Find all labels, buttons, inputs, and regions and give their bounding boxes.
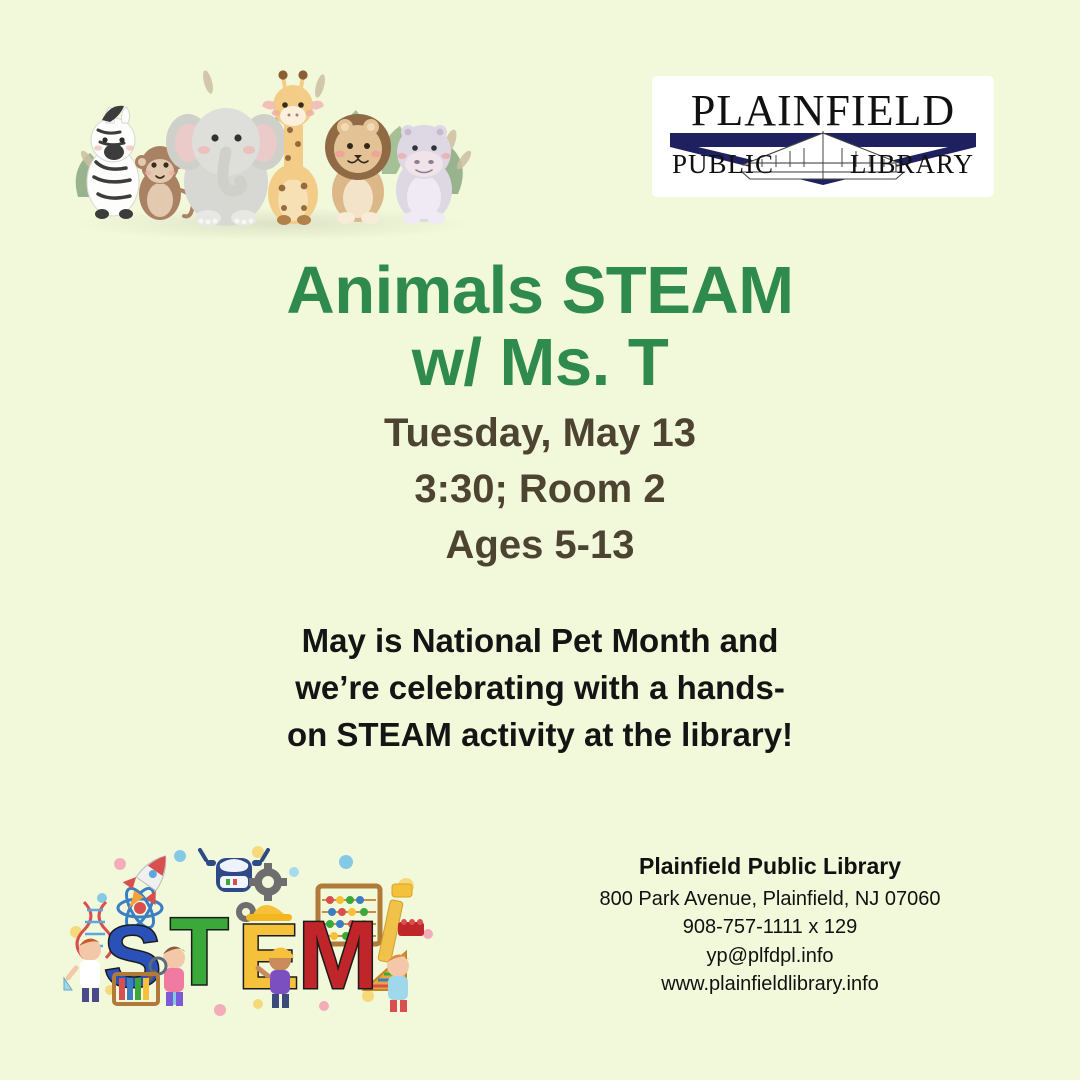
description-line-1: May is National Pet Month and: [0, 617, 1080, 664]
logo-wordmark-public: PUBLIC: [672, 149, 774, 179]
logo-wordmark-plainfield: PLAINFIELD: [691, 86, 955, 135]
ruler-icon: [378, 884, 424, 963]
title-line-2: w/ Ms. T: [0, 327, 1080, 399]
contact-address: 800 Park Avenue, Plainfield, NJ 07060: [560, 885, 980, 913]
contact-organization: Plainfield Public Library: [560, 852, 980, 882]
title-line-1: Animals STEAM: [0, 255, 1080, 327]
kid-with-abacus: [387, 954, 409, 1012]
library-logo: PLAINFIELD PUBLIC LIBRARY: [652, 76, 994, 197]
event-description: May is National Pet Month and we’re cele…: [0, 617, 1080, 759]
flyer-canvas: PLAINFIELD PUBLIC LIBRARY Animals STEAM …: [0, 0, 1080, 1080]
page-title: Animals STEAM w/ Ms. T: [0, 255, 1080, 398]
contact-block: Plainfield Public Library 800 Park Avenu…: [560, 852, 980, 998]
contact-website[interactable]: www.plainfieldlibrary.info: [560, 970, 980, 998]
event-details: Tuesday, May 13 3:30; Room 2 Ages 5-13: [0, 405, 1080, 573]
lion: [325, 114, 391, 224]
safari-animals-illustration: [58, 22, 488, 242]
event-date: Tuesday, May 13: [0, 405, 1080, 461]
stem-illustration: S T E M: [62, 838, 442, 1020]
contact-email[interactable]: yp@plfdpl.info: [560, 942, 980, 970]
description-line-3: on STEAM activity at the library!: [0, 711, 1080, 758]
zebra: [87, 106, 139, 219]
logo-wordmark-library: LIBRARY: [850, 149, 974, 179]
event-time-location: 3:30; Room 2: [0, 461, 1080, 517]
kid-scientist: [64, 938, 101, 1002]
event-age-range: Ages 5-13: [0, 517, 1080, 573]
contact-phone: 908-757-1111 x 129: [560, 913, 980, 941]
stem-letter-m: M: [298, 902, 378, 1009]
hippo: [396, 125, 452, 224]
description-line-2: we’re celebrating with a hands-: [0, 664, 1080, 711]
